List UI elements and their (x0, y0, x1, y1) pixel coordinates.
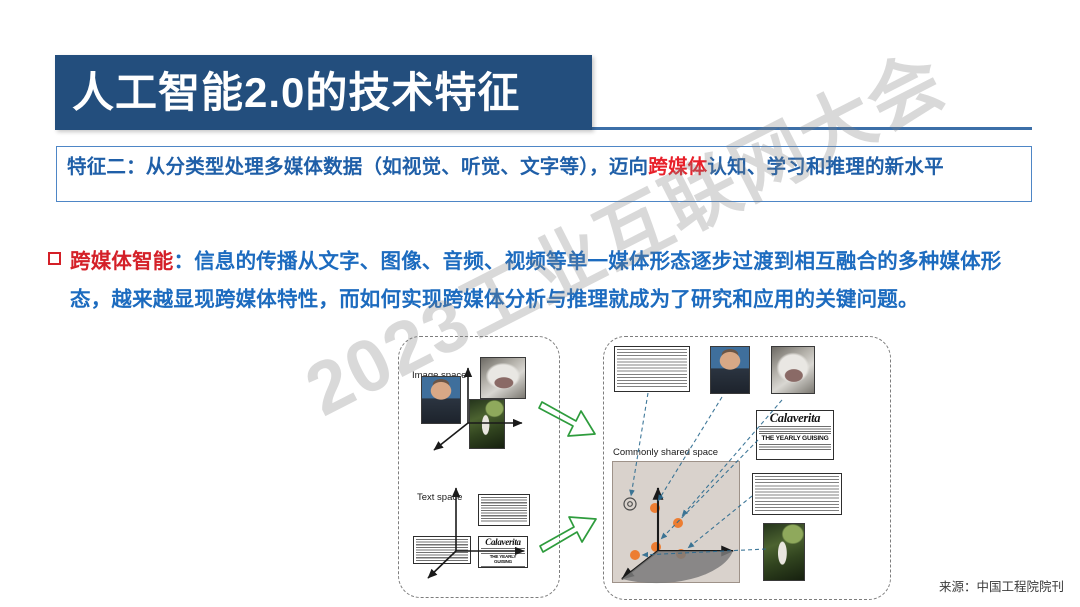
subtitle-highlight: 跨媒体 (648, 156, 707, 178)
subtitle-text: 特征二：从分类型处理多媒体数据（如视觉、听觉、文字等），迈向跨媒体认知、学习和推… (67, 153, 1021, 181)
body-paragraph-block: 跨媒体智能：信息的传播从文字、图像、音频、视频等单一媒体形态逐步过渡到相互融合的… (48, 243, 1038, 319)
transform-arrow-bottom (540, 517, 596, 552)
slide-title-bar: 人工智能2.0的技术特征 (55, 55, 592, 130)
subtitle-part-2: 认知、学习和推理的新水平 (707, 156, 943, 178)
slide-canvas: 2023工业互联网大会 人工智能2.0的技术特征 特征二：从分类型处理多媒体数据… (0, 0, 1080, 607)
image-space-axes (434, 368, 522, 450)
transform-arrow-top (539, 402, 595, 436)
crossmedia-diagram: Image space Text space Calaverita THE YE… (390, 330, 900, 602)
hollow-square-bullet-icon (48, 252, 61, 265)
subtitle-part-1: 特征二：从分类型处理多媒体数据（如视觉、听觉、文字等），迈向 (67, 156, 648, 178)
diagram-vector-overlay (390, 330, 900, 602)
body-text: 跨媒体智能：信息的传播从文字、图像、音频、视频等单一媒体形态逐步过渡到相互融合的… (70, 243, 1038, 319)
body-lead-term: 跨媒体智能 (70, 250, 174, 273)
title-divider-rule (592, 127, 1032, 130)
shared-space-connectors (631, 393, 782, 555)
body-rest-text: ：信息的传播从文字、图像、音频、视频等单一媒体形态逐步过渡到相互融合的多种媒体形… (70, 250, 1002, 311)
shared-space-plane (622, 551, 733, 583)
page-title: 人工智能2.0的技术特征 (55, 72, 520, 114)
text-space-axes (428, 488, 524, 578)
body-line: 跨媒体智能：信息的传播从文字、图像、音频、视频等单一媒体形态逐步过渡到相互融合的… (48, 243, 1038, 319)
subtitle-callout-box: 特征二：从分类型处理多媒体数据（如视觉、听觉、文字等），迈向跨媒体认知、学习和推… (56, 146, 1032, 202)
shared-space-origin-marker (624, 498, 636, 510)
source-attribution: 来源：中国工程院院刊 (939, 576, 1064, 595)
